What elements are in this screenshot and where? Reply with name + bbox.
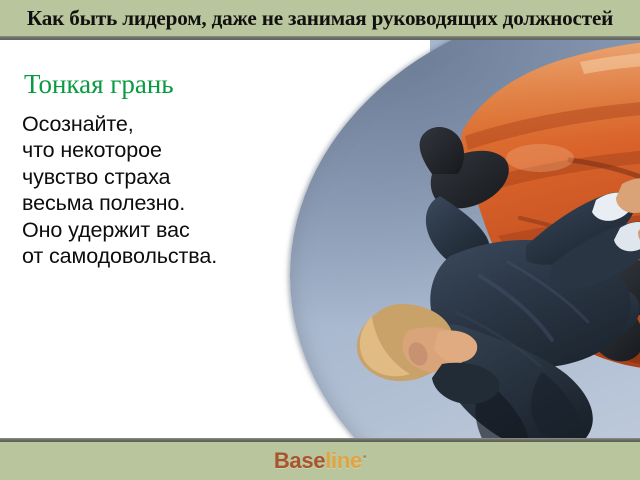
baseline-logo: Baseline• (0, 442, 640, 480)
baseline-logo-text: Baseline• (274, 448, 366, 474)
header-divider-rule (0, 36, 640, 40)
logo-word-base: Base (274, 448, 325, 473)
slide-text-block: Тонкая грань Осознайте, что некоторое чу… (22, 70, 290, 270)
climber-figure (290, 116, 640, 442)
logo-registered-mark-icon: • (363, 452, 366, 463)
slide-subtitle: Тонкая грань (24, 70, 290, 99)
slide-body-text: Осознайте, что некоторое чувство страха … (22, 111, 290, 270)
presentation-slide: Как быть лидером, даже не занимая руково… (0, 0, 640, 480)
logo-word-line: line (325, 448, 362, 473)
slide-header-title: Как быть лидером, даже не занимая руково… (5, 0, 635, 36)
circular-photo-frame (290, 40, 640, 442)
